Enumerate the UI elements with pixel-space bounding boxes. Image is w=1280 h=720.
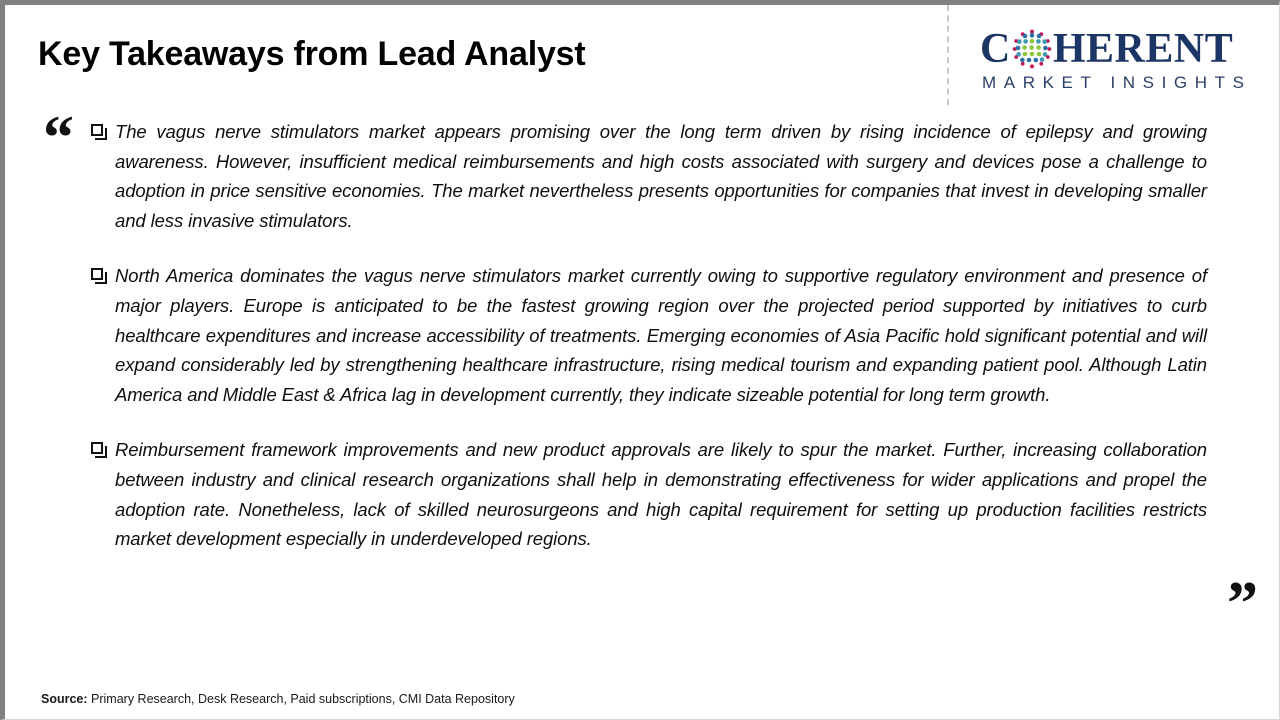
header-divider [947, 5, 949, 105]
opening-quote-icon: “ [43, 107, 72, 169]
source-value: Primary Research, Desk Research, Paid su… [88, 692, 515, 706]
logo-globe-slot [1011, 29, 1053, 69]
company-logo: C [980, 25, 1265, 103]
logo-wordmark-post: HERENT [1053, 26, 1233, 72]
takeaway-item: Reimbursement framework improvements and… [89, 435, 1207, 553]
dotted-globe-icon [1012, 29, 1052, 69]
logo-wordmark-pre: C [980, 26, 1011, 72]
takeaway-item: North America dominates the vagus nerve … [89, 261, 1207, 409]
takeaway-item: The vagus nerve stimulators market appea… [89, 117, 1207, 235]
source-footer: Source: Primary Research, Desk Research,… [41, 692, 515, 706]
page-title: Key Takeaways from Lead Analyst [38, 35, 585, 74]
takeaway-list: The vagus nerve stimulators market appea… [89, 117, 1207, 554]
logo-tagline: MARKET INSIGHTS [982, 73, 1252, 93]
square-bullet-icon [91, 442, 103, 454]
slide-canvas: Key Takeaways from Lead Analyst C [0, 0, 1280, 720]
logo-wordmark: C [980, 25, 1233, 73]
takeaway-text: North America dominates the vagus nerve … [115, 261, 1207, 409]
takeaway-text: Reimbursement framework improvements and… [115, 435, 1207, 553]
closing-quote-icon: ” [1227, 573, 1256, 635]
source-label: Source: [41, 692, 88, 706]
slide-header: Key Takeaways from Lead Analyst C [5, 5, 1279, 108]
square-bullet-icon [91, 124, 103, 136]
square-bullet-icon [91, 268, 103, 280]
takeaway-text: The vagus nerve stimulators market appea… [115, 117, 1207, 235]
slide-body: “ ” The vagus nerve stimulators market a… [5, 109, 1280, 679]
